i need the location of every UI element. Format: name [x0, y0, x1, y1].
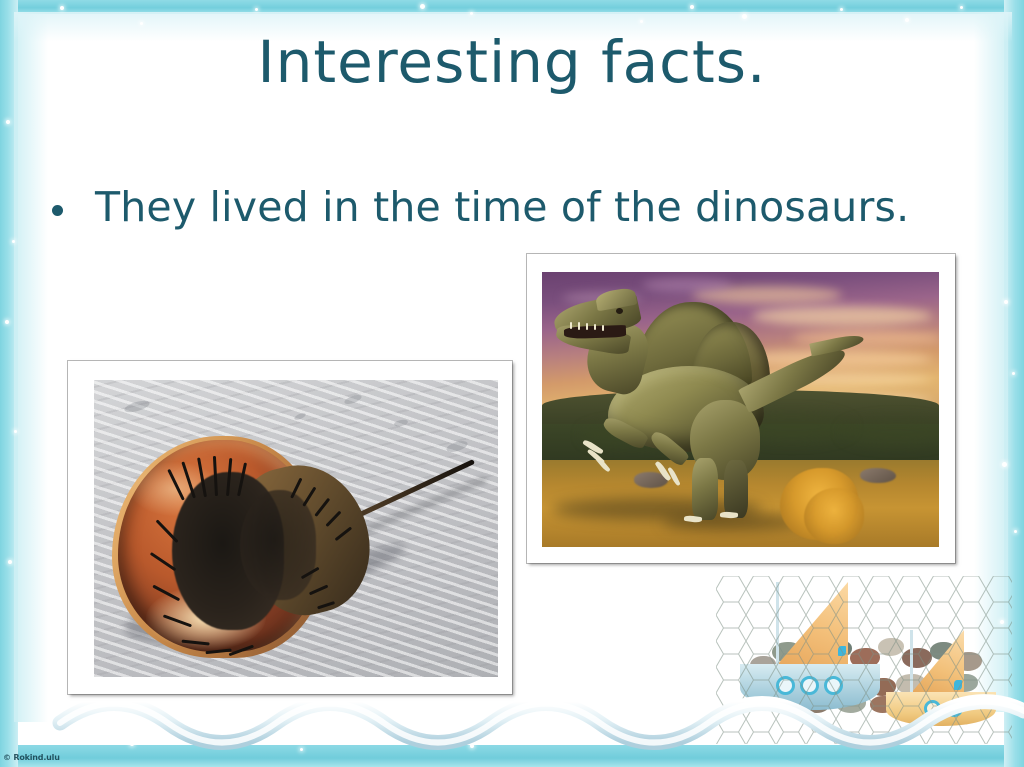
sail-flag-icon [954, 680, 962, 690]
sail-flag-icon [838, 646, 846, 656]
bullet-dot-icon [52, 205, 63, 216]
frame-band-left [0, 0, 18, 767]
decorative-sailboats [716, 576, 1012, 744]
porthole-icon [946, 700, 963, 717]
photo-frame-dinosaur [527, 254, 955, 563]
image-horseshoe-crab [94, 380, 498, 677]
page-title: Interesting facts. [0, 32, 1024, 93]
sparkle-icon [742, 14, 747, 19]
porthole-icon [924, 700, 941, 717]
autumn-bush [804, 488, 864, 544]
watermark-text: © Rokind.ulu [3, 753, 60, 762]
sailboat-mast-small [910, 630, 913, 696]
sailboat-hull-small [886, 692, 996, 726]
bullet-list-item: They lived in the time of the dinosaurs. [52, 184, 982, 231]
porthole-icon [824, 676, 843, 695]
sparkle-icon [140, 22, 143, 25]
frame-band-top [0, 0, 1024, 14]
porthole-icon [776, 676, 795, 695]
dinosaur-leg [724, 460, 748, 518]
dinosaur-leg [692, 458, 718, 520]
frame-fade-left [14, 12, 48, 722]
sailboat-mast-large [776, 582, 779, 670]
image-spinosaurus [542, 272, 939, 547]
porthole-icon [800, 676, 819, 695]
photo-frame-horseshoe-crab [68, 361, 512, 694]
dinosaur-eye [616, 308, 623, 314]
sparkle-icon [905, 18, 909, 22]
sparkle-icon [640, 20, 643, 23]
presentation-slide: Interesting facts. They lived in the tim… [0, 0, 1024, 767]
frame-band-bottom [0, 745, 1024, 767]
rock [860, 468, 896, 483]
bullet-text: They lived in the time of the dinosaurs. [95, 184, 909, 231]
